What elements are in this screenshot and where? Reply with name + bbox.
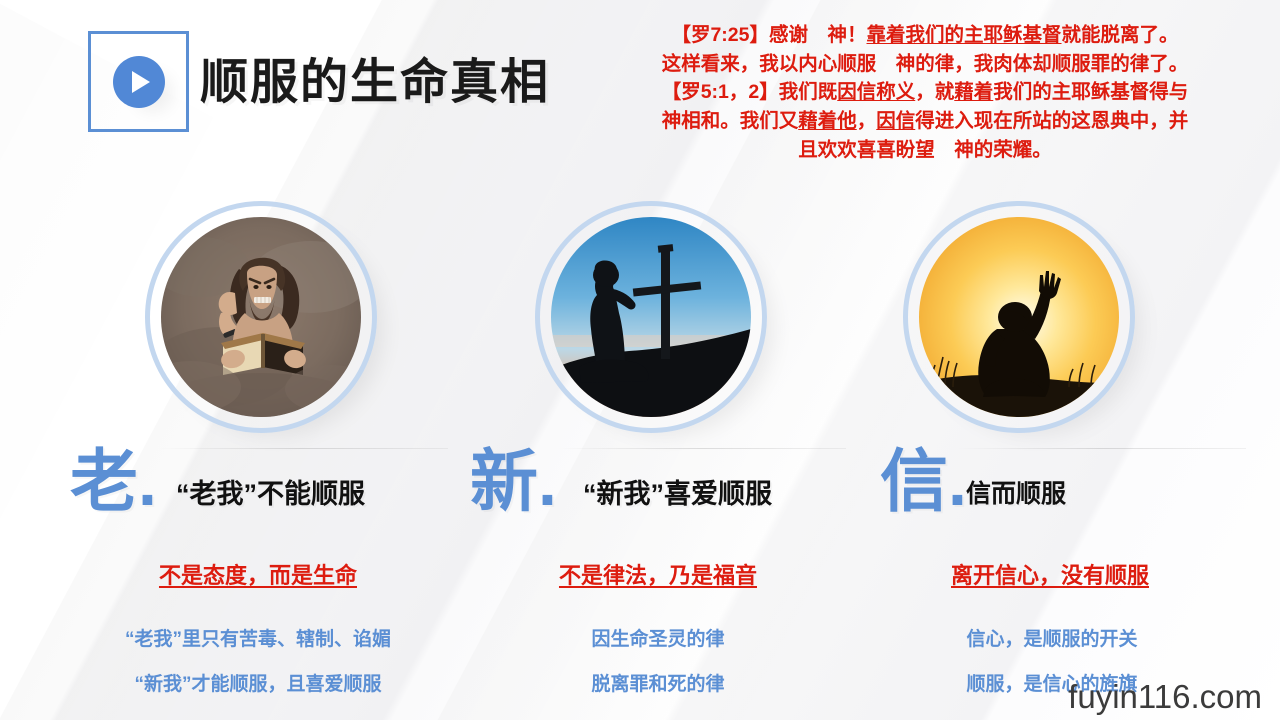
column-sub-head: “新我”喜爱顺服 xyxy=(583,472,772,511)
page-title: 顺服的生命真相 xyxy=(200,42,550,112)
circle-image-2 xyxy=(535,201,767,433)
column-heading-row: 信. 信而顺服 xyxy=(848,450,1268,528)
site-watermark: fuyin116.com xyxy=(1068,678,1262,716)
scripture-verse-2-line-2: 神相和。我们又藉着他，因信得进入现在所站的这恩典中，并 xyxy=(575,108,1275,136)
column-blue-line-2: “新我”才能顺服，且喜爱顺服 xyxy=(48,663,468,708)
verse-2-line2-c: 得进入现在所站的这恩典中，并 xyxy=(915,110,1188,132)
column-big-char: 新. xyxy=(470,448,557,516)
play-triangle-icon xyxy=(132,71,150,93)
column-big-char: 老. xyxy=(70,448,157,516)
verse-1-underlined: 靠着我们的主耶稣基督 xyxy=(867,24,1062,46)
column-red-line: 不是律法，乃是福音 xyxy=(448,558,868,590)
verse-2-line2-a: 神相和。我们又 xyxy=(662,110,799,132)
frame-edge-top xyxy=(116,31,162,34)
verse-ref-1: 【罗7:25】 xyxy=(671,24,769,46)
verse-2-underlined-2: 藉着 xyxy=(954,81,993,103)
verse-2-underlined-4: 因信 xyxy=(876,110,915,132)
verse-ref-2: 【罗5:1，2】 xyxy=(662,81,779,103)
frame-corner-bottom-left xyxy=(88,99,121,132)
photo-praying-silhouette-at-cross xyxy=(551,217,751,417)
column-blue-line-1: 信心，是顺服的开关 xyxy=(842,618,1262,663)
slide-canvas: 顺服的生命真相 【罗7:25】感谢 神！靠着我们的主耶稣基督就能脱离了。 这样看… xyxy=(0,0,1280,720)
column-blue-lines: 因生命圣灵的律 脱离罪和死的律 xyxy=(448,618,868,707)
logo-frame xyxy=(88,31,189,132)
verse-2-underlined-1: 因信称义 xyxy=(837,81,915,103)
verse-1-text-a: 感谢 神！ xyxy=(769,24,867,46)
verse-1-text-b: 就能脱离了。 xyxy=(1062,24,1179,46)
circle-image-1 xyxy=(145,201,377,433)
verse-2-text-c: 我们的主耶稣基督得与 xyxy=(993,81,1188,103)
column-divider xyxy=(556,448,846,449)
column-heading-row: 新. “新我”喜爱顺服 xyxy=(448,450,868,528)
column-heading-row: 老. “老我”不能顺服 xyxy=(48,450,468,528)
verse-2-text-b: ，就 xyxy=(915,81,954,103)
frame-edge-bottom xyxy=(116,129,162,132)
frame-edge-left xyxy=(88,59,91,105)
column-red-line: 不是态度，而是生命 xyxy=(48,558,468,590)
photo-angry-man-with-book xyxy=(161,217,361,417)
verse-2-underlined-3: 藉着他 xyxy=(798,110,857,132)
column-red-line: 离开信心，没有顺服 xyxy=(840,558,1260,590)
verse-2-text-a: 我们既 xyxy=(779,81,838,103)
scripture-verse-1-line-1: 【罗7:25】感谢 神！靠着我们的主耶稣基督就能脱离了。 xyxy=(575,22,1275,50)
column-blue-line-1: “老我”里只有苦毒、辖制、谄媚 xyxy=(48,618,468,663)
scripture-verse-2-line-1: 【罗5:1，2】我们既因信称义，就藉着我们的主耶稣基督得与 xyxy=(575,79,1275,107)
scripture-block: 【罗7:25】感谢 神！靠着我们的主耶稣基督就能脱离了。 这样看来，我以内心顺服… xyxy=(575,22,1275,165)
column-blue-lines: “老我”里只有苦毒、辖制、谄媚 “新我”才能顺服，且喜爱顺服 xyxy=(48,618,468,707)
frame-edge-right xyxy=(186,59,189,105)
frame-corner-bottom-right xyxy=(156,99,189,132)
scripture-verse-1-line-2: 这样看来，我以内心顺服 神的律，我肉体却顺服罪的律了。 xyxy=(575,51,1275,79)
verse-2-line2-b: ， xyxy=(857,110,877,132)
circle-image-3 xyxy=(903,201,1135,433)
column-blue-line-2: 脱离罪和死的律 xyxy=(448,663,868,708)
frame-corner-top-right xyxy=(156,31,189,64)
play-button-icon[interactable] xyxy=(113,56,165,108)
column-divider xyxy=(158,448,448,449)
column-big-char: 信. xyxy=(880,448,967,516)
frame-corner-top-left xyxy=(88,31,121,64)
photo-kneeling-man-raised-hand-sunset xyxy=(919,217,1119,417)
column-sub-head: 信而顺服 xyxy=(966,474,1066,510)
scripture-verse-2-line-3: 且欢欢喜喜盼望 神的荣耀。 xyxy=(575,137,1275,165)
column-divider xyxy=(956,448,1246,449)
column-sub-head: “老我”不能顺服 xyxy=(176,472,365,511)
column-blue-line-1: 因生命圣灵的律 xyxy=(448,618,868,663)
